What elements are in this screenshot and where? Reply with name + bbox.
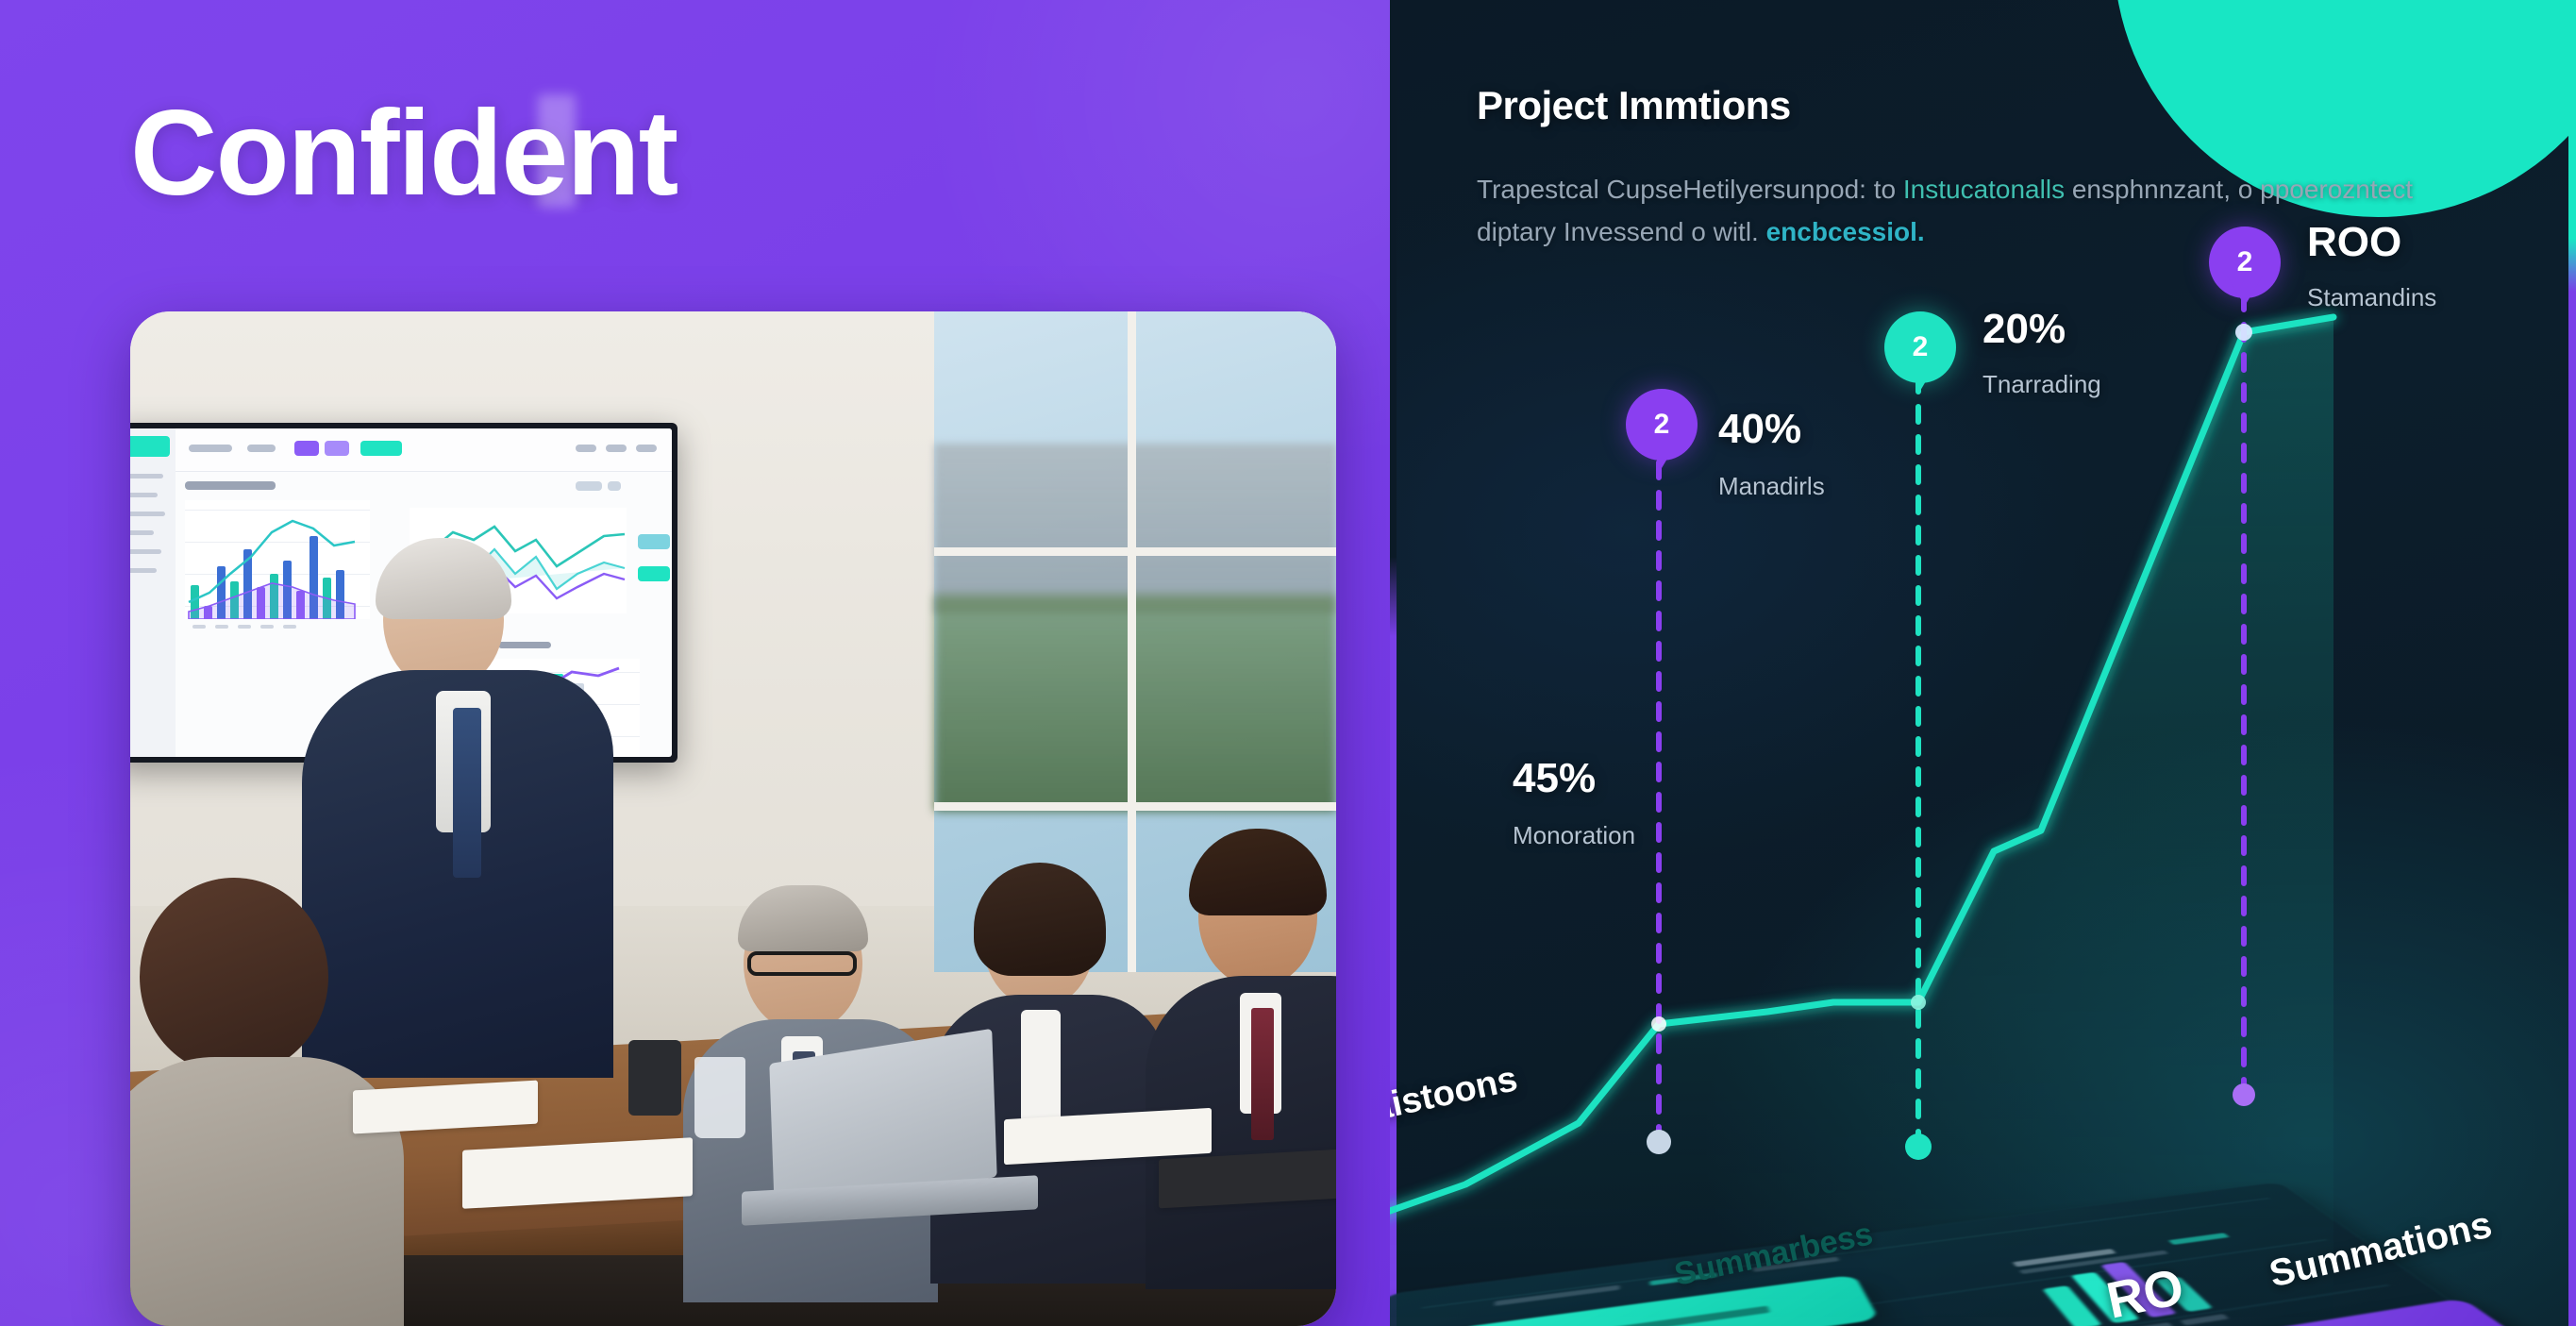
slide: Confident (0, 0, 2576, 1326)
page-title: Confident (130, 91, 677, 217)
growth-line-chart (1390, 0, 2576, 1326)
milestone-value-40: 40% (1718, 406, 1801, 453)
photo-person-right-2 (1146, 846, 1336, 1289)
milestone-pin-badge: 2 (1884, 311, 1956, 383)
right-panel: Project Immtions Trapestcal CupseHetilye… (1390, 0, 2576, 1326)
photo-glass (694, 1057, 745, 1138)
milestone-label-monoration: Monoration (1513, 821, 1635, 850)
tv-logo-chip (130, 436, 170, 457)
photo-pen-holder (628, 1040, 681, 1116)
tv-toolbar (176, 428, 672, 472)
milestone-label-tnarrading: Tnarrading (1982, 370, 2101, 399)
milestone-value-45: 45% (1513, 755, 1596, 802)
milestone-pin-badge: 2 (2209, 227, 2281, 298)
meeting-photo (130, 311, 1336, 1326)
tv-sidebar (130, 428, 176, 757)
tv-dashboard-title (185, 481, 276, 490)
milestone-value-20: 20% (1982, 306, 2066, 353)
milestone-label-stamandins: Stamandins (2307, 283, 2436, 312)
milestone-label-manadirls: Manadirls (1718, 472, 1825, 501)
milestone-value-roo: ROO (2307, 219, 2401, 266)
left-panel: Confident (0, 0, 1390, 1326)
milestone-pin-badge: 2 (1626, 389, 1698, 461)
